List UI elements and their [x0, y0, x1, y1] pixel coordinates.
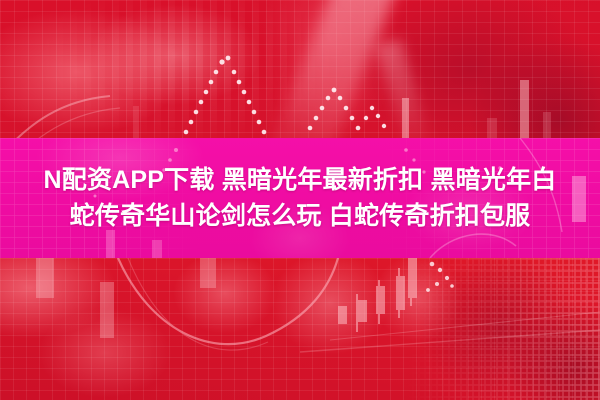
- headline-line-2: 蛇传奇华山论剑怎么玩 白蛇传奇折扣包服: [70, 201, 531, 231]
- background-bottom: [0, 258, 600, 400]
- headline-line-1: N配资APP下载 黑暗光年最新折扣 黑暗光年白: [44, 165, 557, 195]
- headline-block: N配资APP下载 黑暗光年最新折扣 黑暗光年白 蛇传奇华山论剑怎么玩 白蛇传奇折…: [0, 138, 600, 258]
- dot-matrix-bottom-right: [370, 258, 600, 400]
- candlestick-bar: [520, 80, 529, 146]
- candlestick-bar: [133, 106, 139, 142]
- candlestick-bar: [402, 98, 409, 142]
- promo-banner: N配资APP下载 黑暗光年最新折扣 黑暗光年白 蛇传奇华山论剑怎么玩 白蛇传奇折…: [0, 0, 600, 400]
